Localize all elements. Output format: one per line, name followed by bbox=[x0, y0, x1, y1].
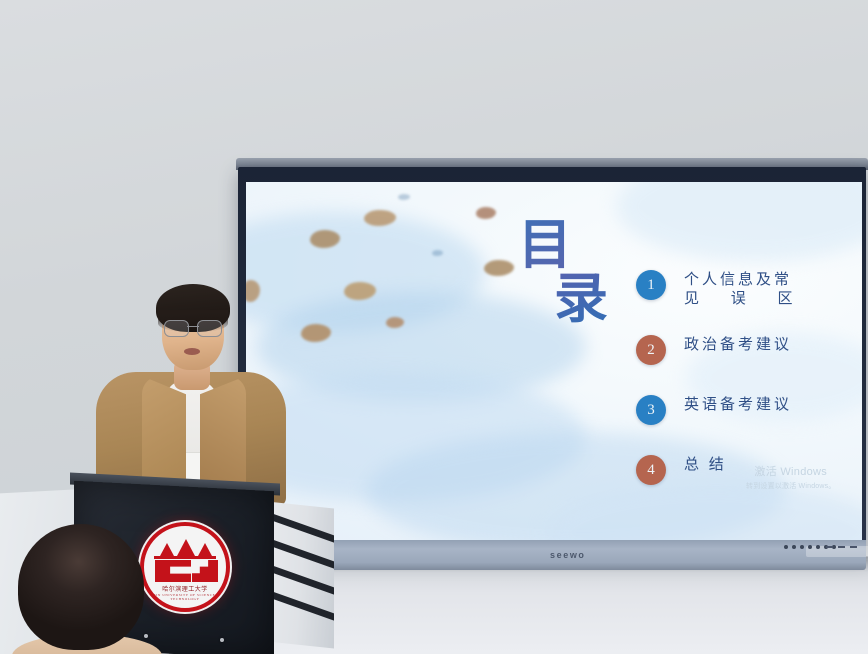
agenda-item[interactable]: 1 个人信息及常 见 误 区 bbox=[636, 270, 856, 309]
podium-screw bbox=[144, 634, 148, 638]
agenda-list: 1 个人信息及常 见 误 区 2 政治备考建议 3 英语备考建议 bbox=[636, 270, 856, 511]
agenda-number-badge: 1 bbox=[636, 270, 666, 300]
agenda-item[interactable]: 4 总 结 bbox=[636, 455, 856, 485]
agenda-number-badge: 2 bbox=[636, 335, 666, 365]
agenda-item[interactable]: 2 政治备考建议 bbox=[636, 335, 856, 365]
brush-mark bbox=[484, 260, 514, 276]
agenda-label: 英语备考建议 bbox=[684, 395, 792, 415]
agenda-number-badge: 3 bbox=[636, 395, 666, 425]
brush-mark bbox=[398, 194, 410, 200]
emblem-org-name: 哈尔滨理工大学 HARBIN UNIVERSITY OF SCIENCE AND… bbox=[144, 584, 226, 601]
brush-mark bbox=[476, 207, 496, 219]
display-brand-label: seewo bbox=[550, 550, 586, 560]
emblem-wave-mark bbox=[192, 560, 218, 582]
lecture-scene: 目 录 1 个人信息及常 见 误 区 2 政治备考建议 bbox=[0, 0, 868, 654]
agenda-item[interactable]: 3 英语备考建议 bbox=[636, 395, 856, 425]
agenda-label-line1: 个人信息及常 bbox=[684, 272, 792, 288]
emblem-letter-mark bbox=[155, 560, 191, 582]
emblem-peaks-icon bbox=[160, 539, 212, 556]
audience-member bbox=[18, 524, 144, 654]
agenda-label: 政治备考建议 bbox=[684, 335, 792, 355]
agenda-number-badge: 4 bbox=[636, 455, 666, 485]
presenter-mouth bbox=[184, 348, 200, 355]
agenda-label-line2: 见 误 区 bbox=[684, 290, 807, 309]
audience-hair bbox=[18, 524, 144, 650]
emblem-bar bbox=[154, 556, 216, 559]
emblem-org-subtitle: HARBIN UNIVERSITY OF SCIENCE AND TECHNOL… bbox=[144, 593, 226, 601]
glasses-icon bbox=[164, 320, 222, 335]
display-vent-dashes bbox=[826, 546, 857, 548]
agenda-label: 总 结 bbox=[684, 455, 727, 475]
presenter bbox=[96, 276, 286, 506]
podium-screw bbox=[220, 638, 224, 642]
agenda-label: 个人信息及常 见 误 区 bbox=[684, 270, 807, 309]
slide-title-char-2: 录 bbox=[554, 254, 608, 333]
wash-blob bbox=[616, 182, 862, 262]
university-emblem: 哈尔滨理工大学 HARBIN UNIVERSITY OF SCIENCE AND… bbox=[140, 522, 230, 612]
